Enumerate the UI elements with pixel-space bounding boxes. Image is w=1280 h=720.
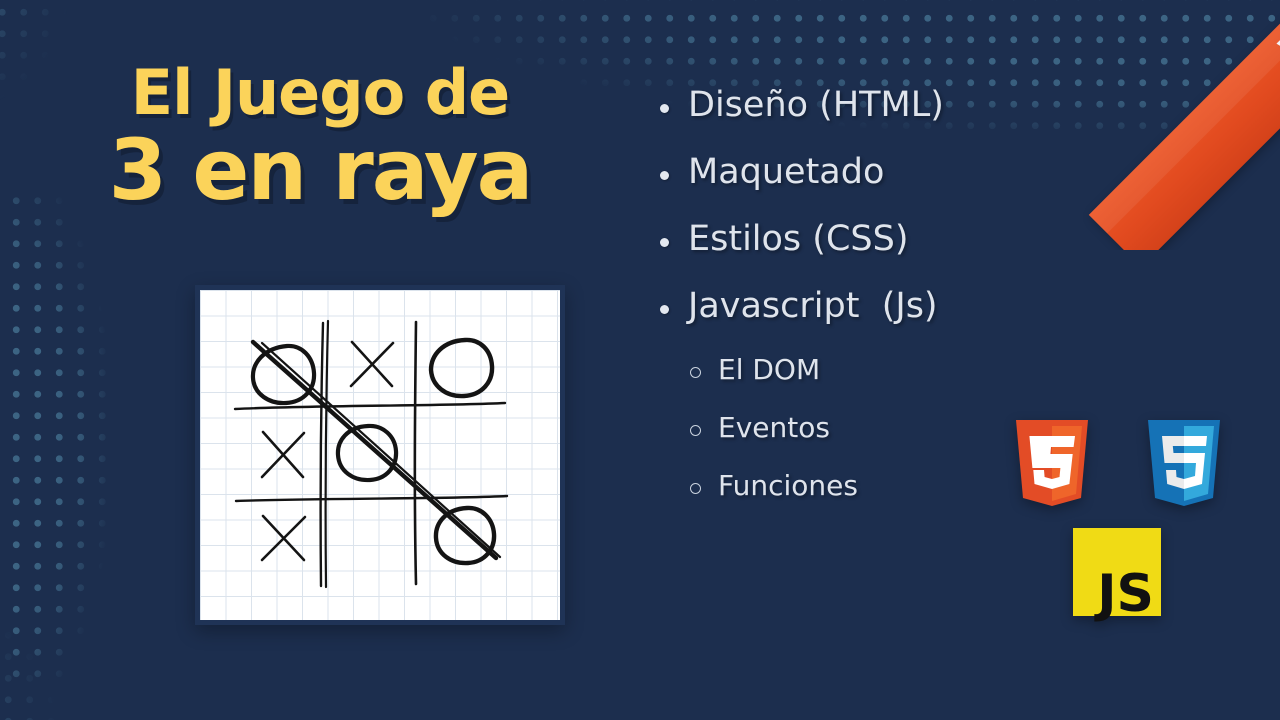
slide-canvas: WEB El Juego de 3 en raya — [0, 0, 1280, 720]
hollow-circle-bullet-icon — [690, 425, 701, 436]
list-item-label: Maquetado — [688, 155, 884, 190]
list-item-label: Estilos (CSS) — [688, 222, 908, 257]
dot-pattern-left — [0, 190, 124, 690]
hollow-circle-bullet-icon — [690, 483, 701, 494]
solid-dot-bullet-icon — [660, 171, 669, 180]
css3-logo[interactable] — [1145, 418, 1223, 506]
list-item[interactable]: Maquetado — [660, 155, 1080, 190]
dot-pattern-bottom-left — [0, 560, 86, 720]
list-item[interactable]: El DOM — [660, 356, 1080, 384]
list-item-label: Eventos — [718, 414, 830, 442]
css3-shield-icon — [1145, 418, 1223, 506]
list-item[interactable]: Estilos (CSS) — [660, 222, 1080, 257]
solid-dot-bullet-icon — [660, 238, 669, 247]
list-item-label: El DOM — [718, 356, 820, 384]
title-line-1: El Juego de — [0, 62, 640, 124]
javascript-logo[interactable]: JS — [1073, 528, 1161, 616]
solid-dot-bullet-icon — [660, 305, 669, 314]
html5-shield-icon — [1013, 418, 1091, 506]
list-item[interactable]: Javascript (Js) — [660, 289, 1080, 324]
board-ink-drawing — [200, 290, 560, 620]
list-item-label: Javascript (Js) — [688, 289, 938, 324]
solid-dot-bullet-icon — [660, 104, 669, 113]
html5-logo[interactable] — [1013, 418, 1091, 506]
ribbon-band: WEB — [1089, 0, 1280, 250]
list-item[interactable]: Diseño (HTML) — [660, 88, 1080, 123]
list-item-label: Funciones — [718, 472, 858, 500]
hollow-circle-bullet-icon — [690, 367, 701, 378]
page-title: El Juego de 3 en raya — [0, 62, 640, 214]
technology-logos: JS — [1005, 418, 1235, 613]
title-line-2: 3 en raya — [0, 126, 640, 214]
javascript-logo-label: JS — [1097, 568, 1154, 620]
ribbon-highlight — [1089, 0, 1280, 233]
tic-tac-toe-board-sketch — [195, 285, 565, 625]
list-item-label: Diseño (HTML) — [688, 88, 944, 123]
